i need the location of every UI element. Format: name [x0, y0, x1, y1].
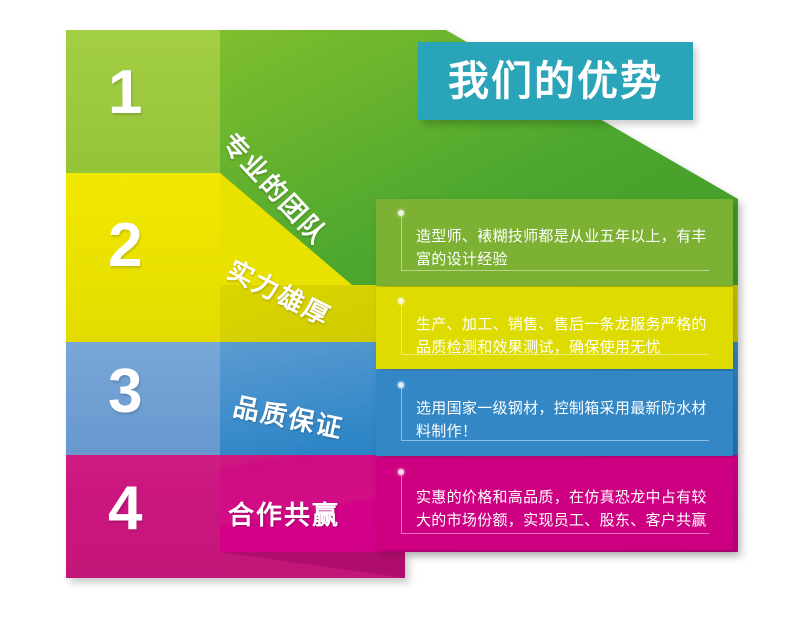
- connector-line: [401, 216, 402, 270]
- panel-underline: [401, 533, 709, 534]
- step-4-block-face: [66, 455, 220, 578]
- title-banner: 我们的优势: [418, 42, 693, 120]
- step-3-block-face: [66, 342, 220, 455]
- step-description-1: 造型师、裱糊技师都是从业五年以上，有丰富的设计经验: [416, 225, 716, 272]
- step-panel-2: 生产、加工、销售、售后一条龙服务严格的品质检测和效果测试，确保使用无忧: [376, 287, 733, 369]
- step-description-2: 生产、加工、销售、售后一条龙服务严格的品质检测和效果测试，确保使用无忧: [416, 313, 716, 360]
- page-title: 我们的优势: [448, 61, 663, 102]
- connector-line: [401, 388, 402, 440]
- panel-underline: [401, 354, 709, 355]
- step-1-block-face: [66, 30, 220, 173]
- step-panel-4: 实惠的价格和高品质，在仿真恐龙中占有较大的市场份额，实现员工、股东、客户共赢: [376, 458, 733, 550]
- panel-underline: [401, 270, 709, 271]
- connector-line: [401, 475, 402, 533]
- step-panel-3: 选用国家一级钢材，控制箱采用最新防水材料制作！: [376, 371, 733, 456]
- step-2-block-face: [66, 173, 220, 342]
- step-description-3: 选用国家一级钢材，控制箱采用最新防水材料制作！: [416, 397, 716, 444]
- panel-underline: [401, 440, 709, 441]
- step-panel-1: 造型师、裱糊技师都是从业五年以上，有丰富的设计经验: [376, 199, 733, 286]
- infographic-canvas: 我们的优势 1 2 3 4 专业的团队 实力雄厚 品质保证 合作共赢 造型师、裱…: [0, 0, 800, 622]
- connector-line: [401, 304, 402, 354]
- step-description-4: 实惠的价格和高品质，在仿真恐龙中占有较大的市场份额，实现员工、股东、客户共赢: [416, 486, 716, 533]
